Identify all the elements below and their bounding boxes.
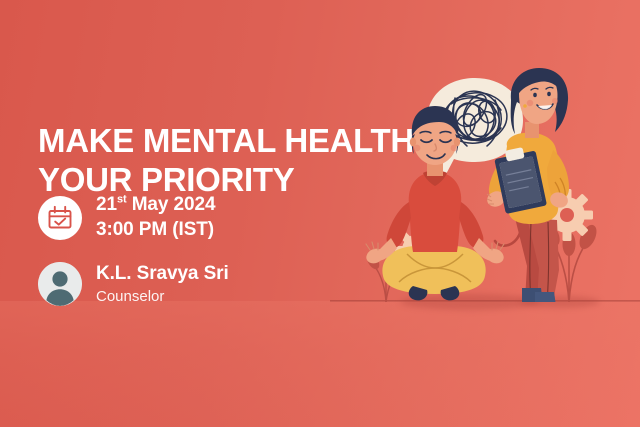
speaker-block: K.L. Sravya Sri Counselor: [38, 262, 229, 307]
date-time-text: 21st May 2024 3:00 PM (IST): [96, 193, 215, 242]
person-avatar-icon: [38, 262, 82, 306]
webinar-banner: MAKE MENTAL HEALTH YOUR PRIORITY 21st Ma…: [0, 0, 640, 427]
speaker-text: K.L. Sravya Sri Counselor: [96, 262, 229, 307]
event-date: 21st May 2024: [96, 193, 215, 218]
calendar-check-icon: [38, 196, 82, 240]
event-time: 3:00 PM (IST): [96, 218, 215, 243]
speaker-role: Counselor: [96, 287, 229, 307]
speaker-name: K.L. Sravya Sri: [96, 262, 229, 287]
counseling-illustration: [355, 60, 640, 320]
date-time-block: 21st May 2024 3:00 PM (IST): [38, 193, 215, 242]
